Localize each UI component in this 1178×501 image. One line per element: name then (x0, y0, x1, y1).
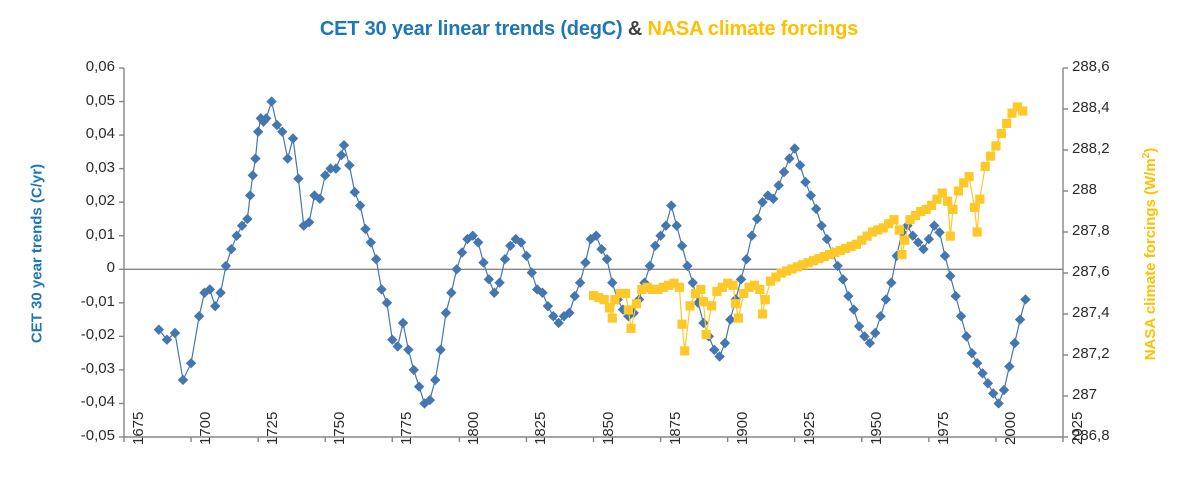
series-layer (154, 96, 1031, 408)
chart-container: CET 30 year linear trends (degC) & NASA … (0, 0, 1178, 501)
plot-area (0, 0, 1178, 501)
